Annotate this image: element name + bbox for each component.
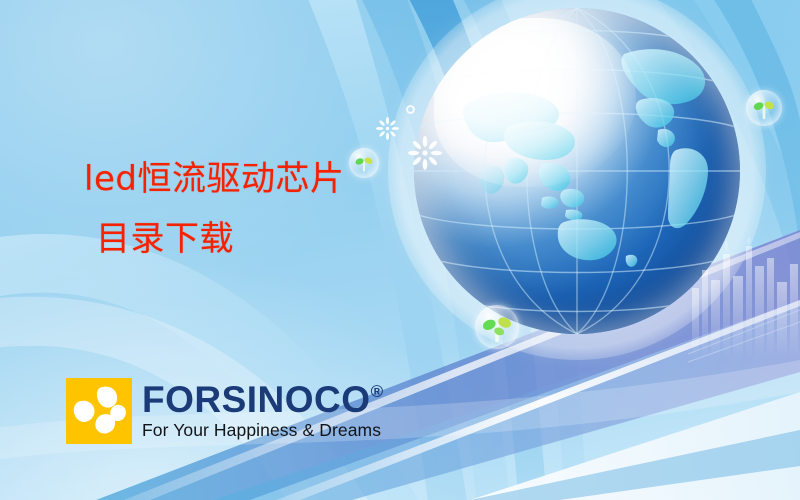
bubble-sprout-center — [475, 305, 519, 349]
logo-wordmark: FORSINOCO® For Your Happiness & Dreams — [142, 381, 384, 440]
headline-line-1: led恒流驱动芯片 — [84, 162, 424, 196]
earth-globe-icon — [414, 8, 740, 334]
logo-name-text: FORSINOCO — [142, 381, 371, 418]
promo-banner: led恒流驱动芯片 目录下载 FORSINOCO® For Your Happi… — [0, 0, 800, 500]
green-sprout-icon — [481, 315, 512, 340]
logo-company-name: FORSINOCO® — [142, 381, 384, 418]
green-sprout-icon — [753, 100, 776, 118]
logo-tagline: For Your Happiness & Dreams — [142, 421, 384, 440]
company-logo[interactable]: FORSINOCO® For Your Happiness & Dreams — [66, 378, 384, 444]
bubble-sprout-right — [746, 90, 782, 126]
globe-sphere — [414, 8, 740, 334]
headline-line-2: 目录下载 — [96, 222, 424, 256]
four-petal-flower-icon — [66, 378, 132, 444]
registered-trademark-icon: ® — [371, 383, 384, 400]
page-title: led恒流驱动芯片 目录下载 — [84, 162, 424, 256]
